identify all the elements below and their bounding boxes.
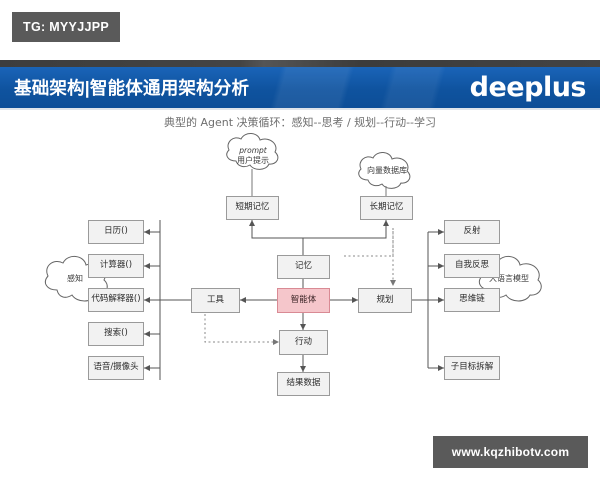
node-planning-label: 规划 [376, 296, 393, 305]
node-action-label: 行动 [295, 338, 312, 347]
node-calendar-label: 日历() [104, 227, 128, 236]
node-calculator[interactable]: 计算器() [88, 254, 144, 278]
tg-watermark-badge: TG: MYYJJPP [12, 12, 120, 42]
link-memory-short [252, 219, 303, 238]
node-subgoal-decomposition[interactable]: 子目标拆解 [444, 356, 500, 380]
node-search[interactable]: 搜索() [88, 322, 144, 346]
node-planning[interactable]: 规划 [358, 288, 412, 313]
header-underline [0, 108, 600, 110]
node-tools-label: 工具 [207, 296, 224, 305]
node-voice-camera-label: 语音/摄像头 [93, 363, 138, 372]
node-voice-camera[interactable]: 语音/摄像头 [88, 356, 144, 380]
node-agent[interactable]: 智能体 [277, 288, 330, 313]
node-reflection-label: 反射 [463, 227, 480, 236]
node-calendar[interactable]: 日历() [88, 220, 144, 244]
node-tools[interactable]: 工具 [191, 288, 240, 313]
node-self-reflection[interactable]: 自我反思 [444, 254, 500, 278]
node-code-interpreter-label: 代码解释器() [91, 295, 140, 304]
site-url-label: www.kqzhibotv.com [452, 445, 569, 459]
link-tools-action-dotted [205, 314, 279, 342]
node-reflection[interactable]: 反射 [444, 220, 500, 244]
link-memory-long [303, 219, 386, 238]
node-long-memory[interactable]: 长期记忆 [360, 196, 413, 220]
node-memory[interactable]: 记忆 [277, 255, 330, 279]
node-result-data-label: 结果数据 [286, 379, 320, 388]
node-long-memory-label: 长期记忆 [369, 203, 403, 212]
site-url-badge: www.kqzhibotv.com [433, 436, 588, 468]
node-search-label: 搜索() [104, 329, 128, 338]
deeplus-brand-logo: deeplus [470, 67, 586, 108]
node-result-data[interactable]: 结果数据 [277, 372, 330, 396]
node-calculator-label: 计算器() [100, 261, 132, 270]
architecture-diagram: prompt 用户提示 向量数据库 感知 大语言模型 短期记忆 长期记忆 记忆 … [0, 128, 600, 418]
tg-watermark-label: TG: MYYJJPP [23, 20, 109, 34]
header-top-strip [0, 60, 600, 67]
node-chain-of-thought-label: 思维链 [459, 295, 485, 304]
page-title: 基础架构|智能体通用架构分析 [14, 67, 249, 108]
node-chain-of-thought[interactable]: 思维链 [444, 288, 500, 312]
cloud-shape-prompt [227, 133, 278, 169]
header-banner: 基础架构|智能体通用架构分析 deeplus [0, 67, 600, 108]
slide-page: TG: MYYJJPP 基础架构|智能体通用架构分析 deeplus 典型的 A… [0, 0, 600, 480]
node-short-memory[interactable]: 短期记忆 [226, 196, 279, 220]
node-short-memory-label: 短期记忆 [235, 203, 269, 212]
node-agent-label: 智能体 [291, 296, 317, 305]
node-subgoal-decomposition-label: 子目标拆解 [451, 363, 494, 372]
node-memory-label: 记忆 [295, 262, 312, 271]
node-action[interactable]: 行动 [279, 330, 328, 355]
cloud-shape-vector-db [359, 152, 410, 188]
node-code-interpreter[interactable]: 代码解释器() [88, 288, 144, 312]
node-self-reflection-label: 自我反思 [455, 261, 489, 270]
